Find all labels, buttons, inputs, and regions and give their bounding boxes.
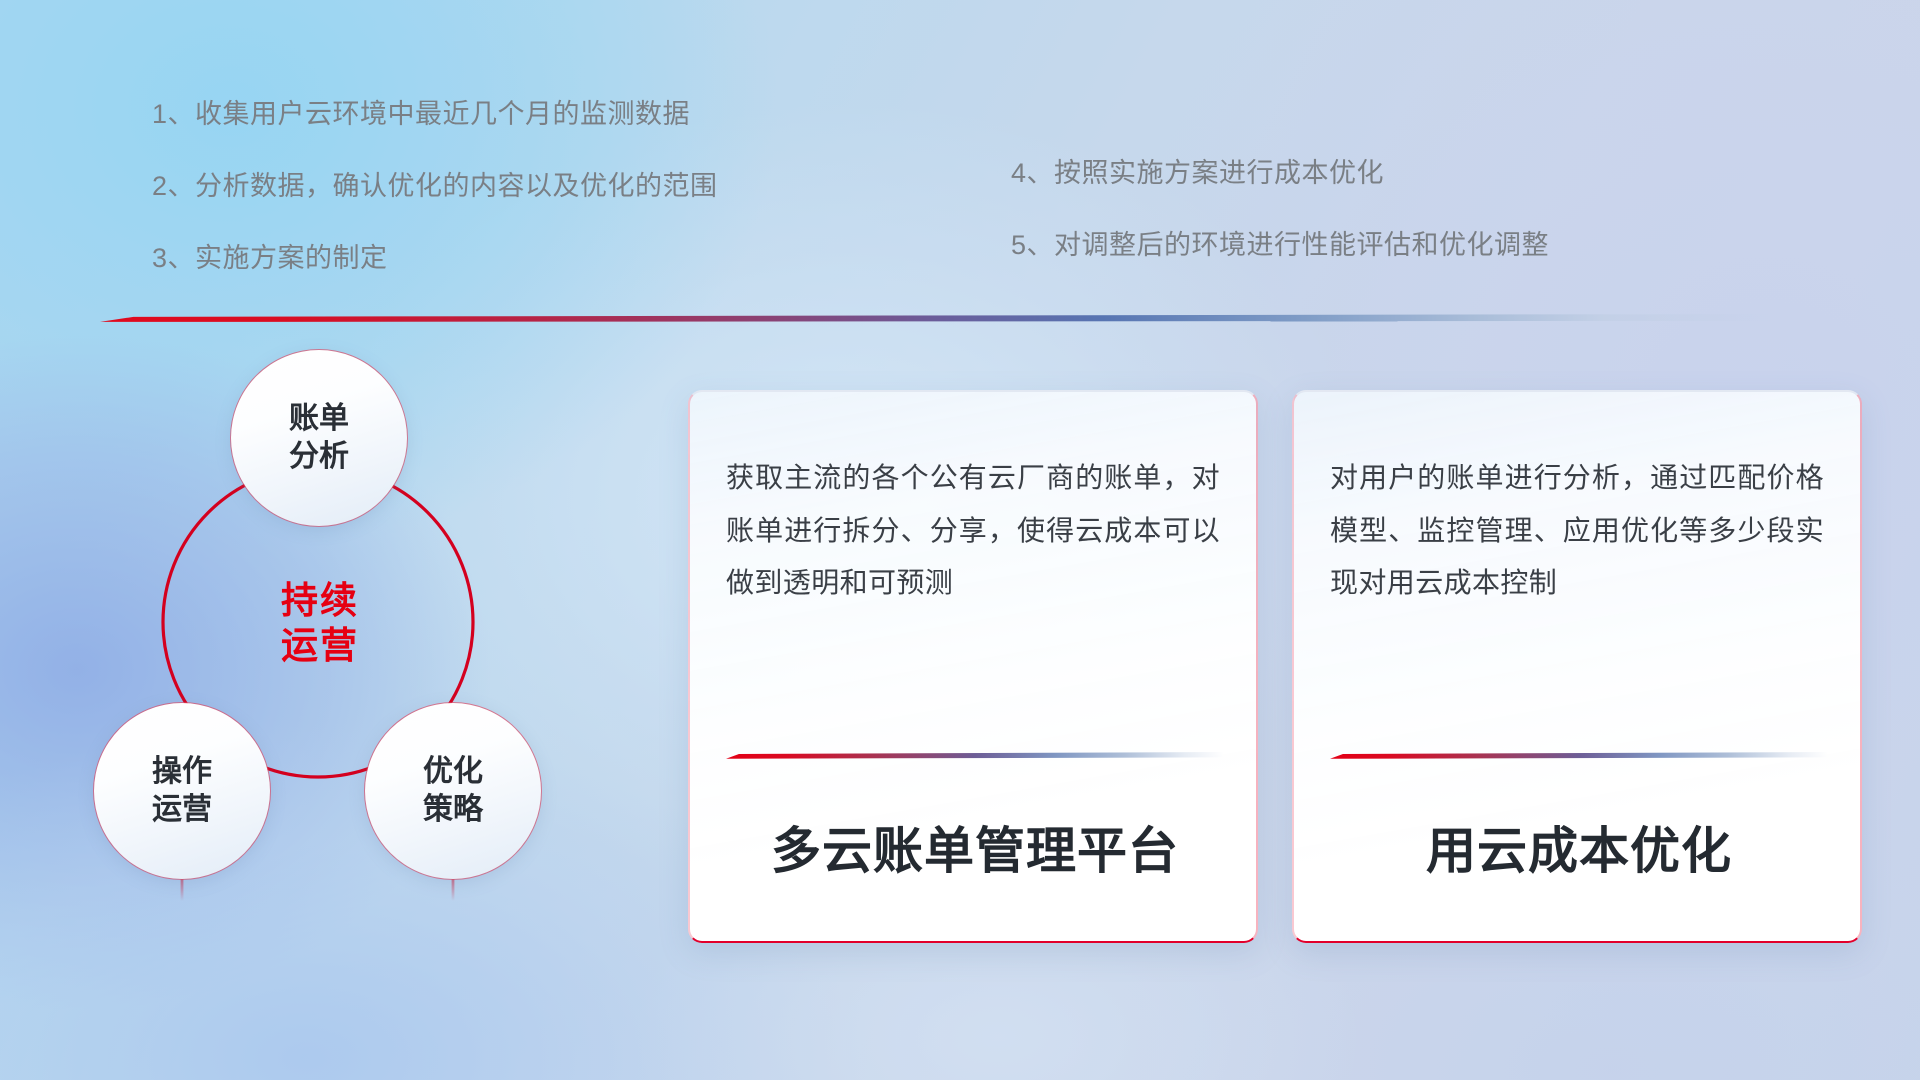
- card-title: 多云账单管理平台: [726, 811, 1224, 883]
- card-divider-bar: [726, 752, 1224, 761]
- step-item-5: 5、对调整后的环境进行性能评估和优化调整: [1011, 232, 1549, 259]
- card-multi-cloud-billing[interactable]: 获取主流的各个公有云厂商的账单，对账单进行拆分、分享，使得云成本可以做到透明和可…: [688, 390, 1258, 943]
- venn-bubble-optimization-strategy[interactable]: 优化 策略: [365, 703, 541, 879]
- venn-bubble-label-line2: 策略: [423, 791, 483, 829]
- card-divider: [1330, 752, 1828, 761]
- step-item-3: 3、实施方案的制定: [152, 245, 718, 272]
- venn-bubble-operation[interactable]: 操作 运营: [94, 703, 270, 879]
- venn-bubble-label-line2: 分析: [289, 438, 349, 476]
- venn-bubble-label-line1: 账单: [289, 400, 349, 438]
- step-item-2: 2、分析数据，确认优化的内容以及优化的范围: [152, 173, 718, 200]
- venn-center-label: 持续 运营: [240, 568, 400, 678]
- card-description: 对用户的账单进行分析，通过匹配价格模型、监控管理、应用优化等多少段实现对用云成本…: [1330, 452, 1824, 610]
- step-item-1: 1、收集用户云环境中最近几个月的监测数据: [152, 101, 718, 128]
- card-description: 获取主流的各个公有云厂商的账单，对账单进行拆分、分享，使得云成本可以做到透明和可…: [726, 452, 1220, 610]
- card-cloud-cost-optimization[interactable]: 对用户的账单进行分析，通过匹配价格模型、监控管理、应用优化等多少段实现对用云成本…: [1292, 390, 1862, 943]
- card-title: 用云成本优化: [1330, 811, 1828, 883]
- venn-bubble-label-line1: 优化: [423, 753, 483, 791]
- venn-center-label-line2: 运营: [281, 623, 359, 668]
- steps-list-left: 1、收集用户云环境中最近几个月的监测数据 2、分析数据，确认优化的内容以及优化的…: [152, 101, 718, 317]
- steps-list-right: 4、按照实施方案进行成本优化 5、对调整后的环境进行性能评估和优化调整: [1011, 160, 1549, 304]
- section-divider-bar: [100, 314, 1772, 325]
- venn-bubble-label-line2: 运营: [152, 791, 212, 829]
- card-divider: [726, 752, 1224, 761]
- section-divider: [100, 314, 1772, 325]
- venn-diagram: 账单 分析 操作 运营 优化 策略 持续 运营: [90, 340, 650, 970]
- step-item-4: 4、按照实施方案进行成本优化: [1011, 160, 1549, 187]
- venn-center-label-line1: 持续: [281, 578, 359, 623]
- venn-bubble-billing-analysis[interactable]: 账单 分析: [231, 350, 407, 526]
- venn-bubble-label-line1: 操作: [152, 753, 212, 791]
- card-divider-bar: [1330, 752, 1828, 761]
